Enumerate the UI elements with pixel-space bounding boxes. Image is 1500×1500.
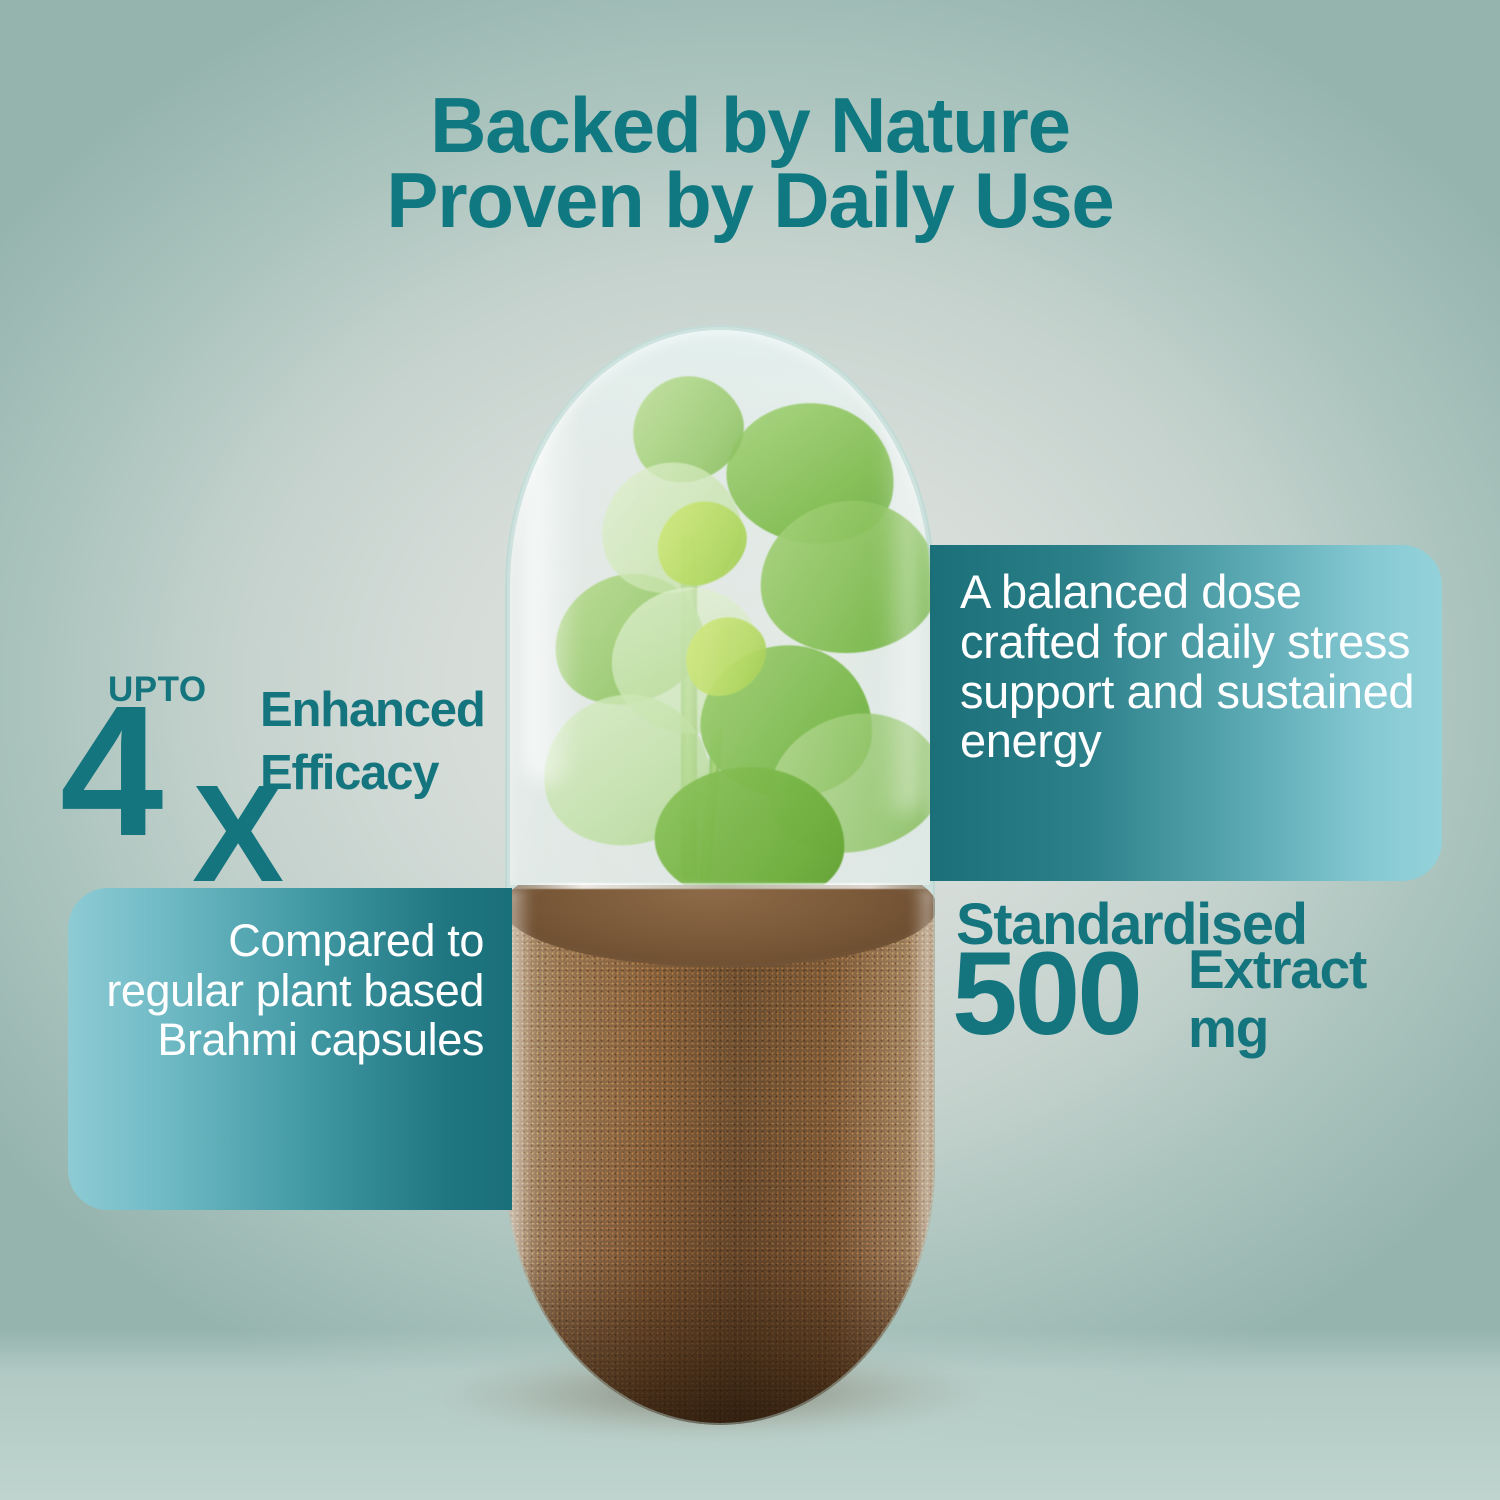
headline-line-2: Proven by Daily Use	[0, 163, 1500, 238]
capsule-rim-light-right	[910, 891, 932, 1411]
capsule-seam-line	[505, 883, 935, 889]
headline-line-1: Backed by Nature	[0, 88, 1500, 163]
capsule-bottom-powder-half	[505, 885, 935, 1425]
callout-compared-to-regular: Compared to regular plant based Brahmi c…	[68, 888, 512, 1210]
capsule-top-glass-half	[505, 325, 935, 890]
product-capsule-image	[505, 325, 935, 1425]
stat-efficacy-number: 4	[60, 696, 157, 849]
stat-efficacy-label-line-2: Efficacy	[260, 749, 540, 798]
stat-efficacy-label-line-1: Enhanced	[260, 683, 485, 737]
page-headline: Backed by Nature Proven by Daily Use	[0, 88, 1500, 238]
stat-standardised-extract: Standardised 500 Extract mg	[956, 896, 1426, 1086]
callout-balanced-dose: A balanced dose crafted for daily stress…	[930, 545, 1442, 881]
stat-dosage-unit: Extract mg	[1188, 942, 1428, 1056]
stat-dosage-unit-line-2: mg	[1188, 1001, 1428, 1056]
stat-dosage-number: 500	[952, 944, 1140, 1045]
capsule-body	[505, 325, 935, 1425]
stat-dosage-unit-line-1: Extract	[1188, 938, 1366, 1000]
stat-efficacy-label: Enhanced Efficacy	[260, 686, 540, 798]
glass-rim	[505, 325, 935, 890]
powder-bottom-shading	[505, 1255, 935, 1425]
stat-enhanced-efficacy: UPTO 4 X Enhanced Efficacy	[62, 672, 532, 872]
